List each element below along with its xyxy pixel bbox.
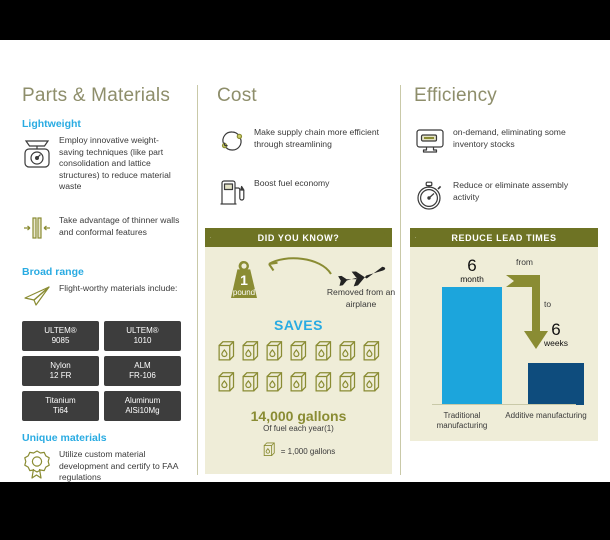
fuel-can-icon (337, 339, 357, 367)
stopwatch-icon (414, 180, 446, 217)
svg-text:pound: pound (233, 288, 255, 297)
list-item-text: Make supply chain more efficient through… (254, 127, 386, 150)
fuel-can-icon (240, 339, 260, 367)
fuel-can-icon (216, 370, 236, 398)
svg-text:1: 1 (240, 272, 248, 288)
fuel-can-icon (262, 441, 276, 462)
infographic-canvas: Parts & Materials Lightweight (0, 40, 610, 482)
material-grade: 9085 (24, 336, 97, 346)
arrow-from-label: from (516, 257, 533, 267)
lead-time-bar-chart: 6 month 6 weeks (420, 257, 588, 405)
list-item-text: Take advantage of thinner walls and conf… (59, 215, 181, 238)
fuel-can-icon (264, 370, 284, 398)
banner-did-you-know: DID YOU KNOW? (205, 228, 392, 247)
material-grade: Ti64 (24, 406, 97, 416)
material-grade: 1010 (106, 336, 179, 346)
subheading-unique-materials: Unique materials (22, 432, 181, 444)
can-legend-label: = 1,000 gallons (281, 447, 336, 456)
material-name: Nylon (24, 361, 97, 371)
material-name: Aluminum (106, 396, 179, 406)
subheading-broad-range: Broad range (22, 266, 181, 278)
fuel-can-icon (313, 339, 333, 367)
page-title-efficiency: Efficiency (414, 85, 596, 107)
material-grade: 12 FR (24, 371, 97, 381)
subheading-lightweight: Lightweight (22, 118, 181, 130)
monitor-order-icon (414, 127, 446, 160)
list-item-text: Utilize custom material development and … (59, 449, 181, 484)
fuel-can-icon (288, 339, 308, 367)
elbow-arrow-icon (504, 269, 564, 358)
arrow-to-label: to (544, 299, 551, 309)
fuel-can-icon (313, 370, 333, 398)
fuel-can-grid (215, 339, 382, 367)
list-item-text: Reduce or eliminate assembly activity (453, 180, 596, 203)
list-item: Make supply chain more efficient through… (217, 127, 386, 160)
fuel-can-icon (216, 339, 236, 367)
material-chip: Aluminum AlSi10Mg (104, 391, 181, 421)
page-title-parts: Parts & Materials (22, 85, 181, 107)
list-item-text: Flight-worthy materials include: (59, 283, 177, 295)
fuel-pump-icon (217, 178, 247, 213)
list-item: Flight-worthy materials include: (22, 283, 181, 314)
page-title-cost: Cost (217, 85, 386, 107)
banner-reduce-lead-times: REDUCE LEAD TIMES (410, 228, 598, 247)
material-chip: ALM FR-106 (104, 356, 181, 386)
bar-value-traditional: 6 (434, 257, 510, 274)
bar-label-additive: Additive manufacturing (504, 411, 588, 421)
material-chip: Nylon 12 FR (22, 356, 99, 386)
fuel-can-icon (337, 370, 357, 398)
list-item: Boost fuel economy (217, 178, 386, 213)
material-grade: AlSi10Mg (106, 406, 179, 416)
material-name: ALM (106, 361, 179, 371)
material-name: ULTEM® (106, 326, 179, 336)
fuel-can-icon (288, 370, 308, 398)
bar-unit-traditional: month (434, 274, 510, 284)
fuel-can-grid (215, 370, 382, 398)
screenshot-stage: Parts & Materials Lightweight (0, 0, 610, 540)
scale-icon (22, 135, 52, 174)
list-item: Utilize custom material development and … (22, 449, 181, 486)
material-chip: Titanium Ti64 (22, 391, 99, 421)
award-ribbon-icon (22, 449, 52, 486)
column-efficiency: Efficiency on-demand, eliminating some i… (400, 40, 610, 482)
fuel-can-icon (361, 370, 381, 398)
list-item-text: Employ innovative weight-saving techniqu… (59, 135, 181, 193)
cycle-arrows-icon (217, 127, 247, 160)
bar-traditional (442, 287, 502, 405)
chart-axis-line (432, 404, 576, 405)
thin-wall-icon (22, 215, 52, 246)
saves-label: SAVES (215, 317, 382, 333)
materials-grid: ULTEM® 9085 ULTEM® 1010 Nylon 12 FR ALM … (22, 321, 181, 421)
gallons-headline: 14,000 gallons (215, 408, 382, 424)
fuel-can-icon (264, 339, 284, 367)
gallons-subline: Of fuel each year(1) (215, 424, 382, 433)
bar-label-traditional: Traditional manufacturing (420, 411, 504, 431)
letterbox-bottom (0, 482, 610, 540)
material-name: Titanium (24, 396, 97, 406)
material-name: ULTEM® (24, 326, 97, 336)
list-item-text: on-demand, eliminating some inventory st… (453, 127, 596, 150)
column-parts-materials: Parts & Materials Lightweight (0, 40, 197, 482)
bar-additive (528, 363, 584, 405)
efficiency-panel: 6 month 6 weeks (410, 247, 598, 441)
material-chip: ULTEM® 9085 (22, 321, 99, 351)
list-item: Take advantage of thinner walls and conf… (22, 215, 181, 246)
letterbox-top (0, 0, 610, 40)
removed-from-airplane-label: Removed from an airplane (323, 287, 399, 310)
column-cost: Cost Make supply chain more efficient th… (197, 40, 400, 482)
cost-panel: 1 pound (205, 247, 392, 474)
list-item: Employ innovative weight-saving techniqu… (22, 135, 181, 193)
material-grade: FR-106 (106, 371, 179, 381)
paper-plane-icon (22, 283, 52, 314)
list-item: on-demand, eliminating some inventory st… (414, 127, 596, 160)
fuel-can-icon (240, 370, 260, 398)
banner-label: REDUCE LEAD TIMES (410, 228, 598, 247)
banner-label: DID YOU KNOW? (205, 228, 392, 247)
fuel-can-icon (361, 339, 381, 367)
material-chip: ULTEM® 1010 (104, 321, 181, 351)
list-item: Reduce or eliminate assembly activity (414, 180, 596, 217)
list-item-text: Boost fuel economy (254, 178, 329, 190)
